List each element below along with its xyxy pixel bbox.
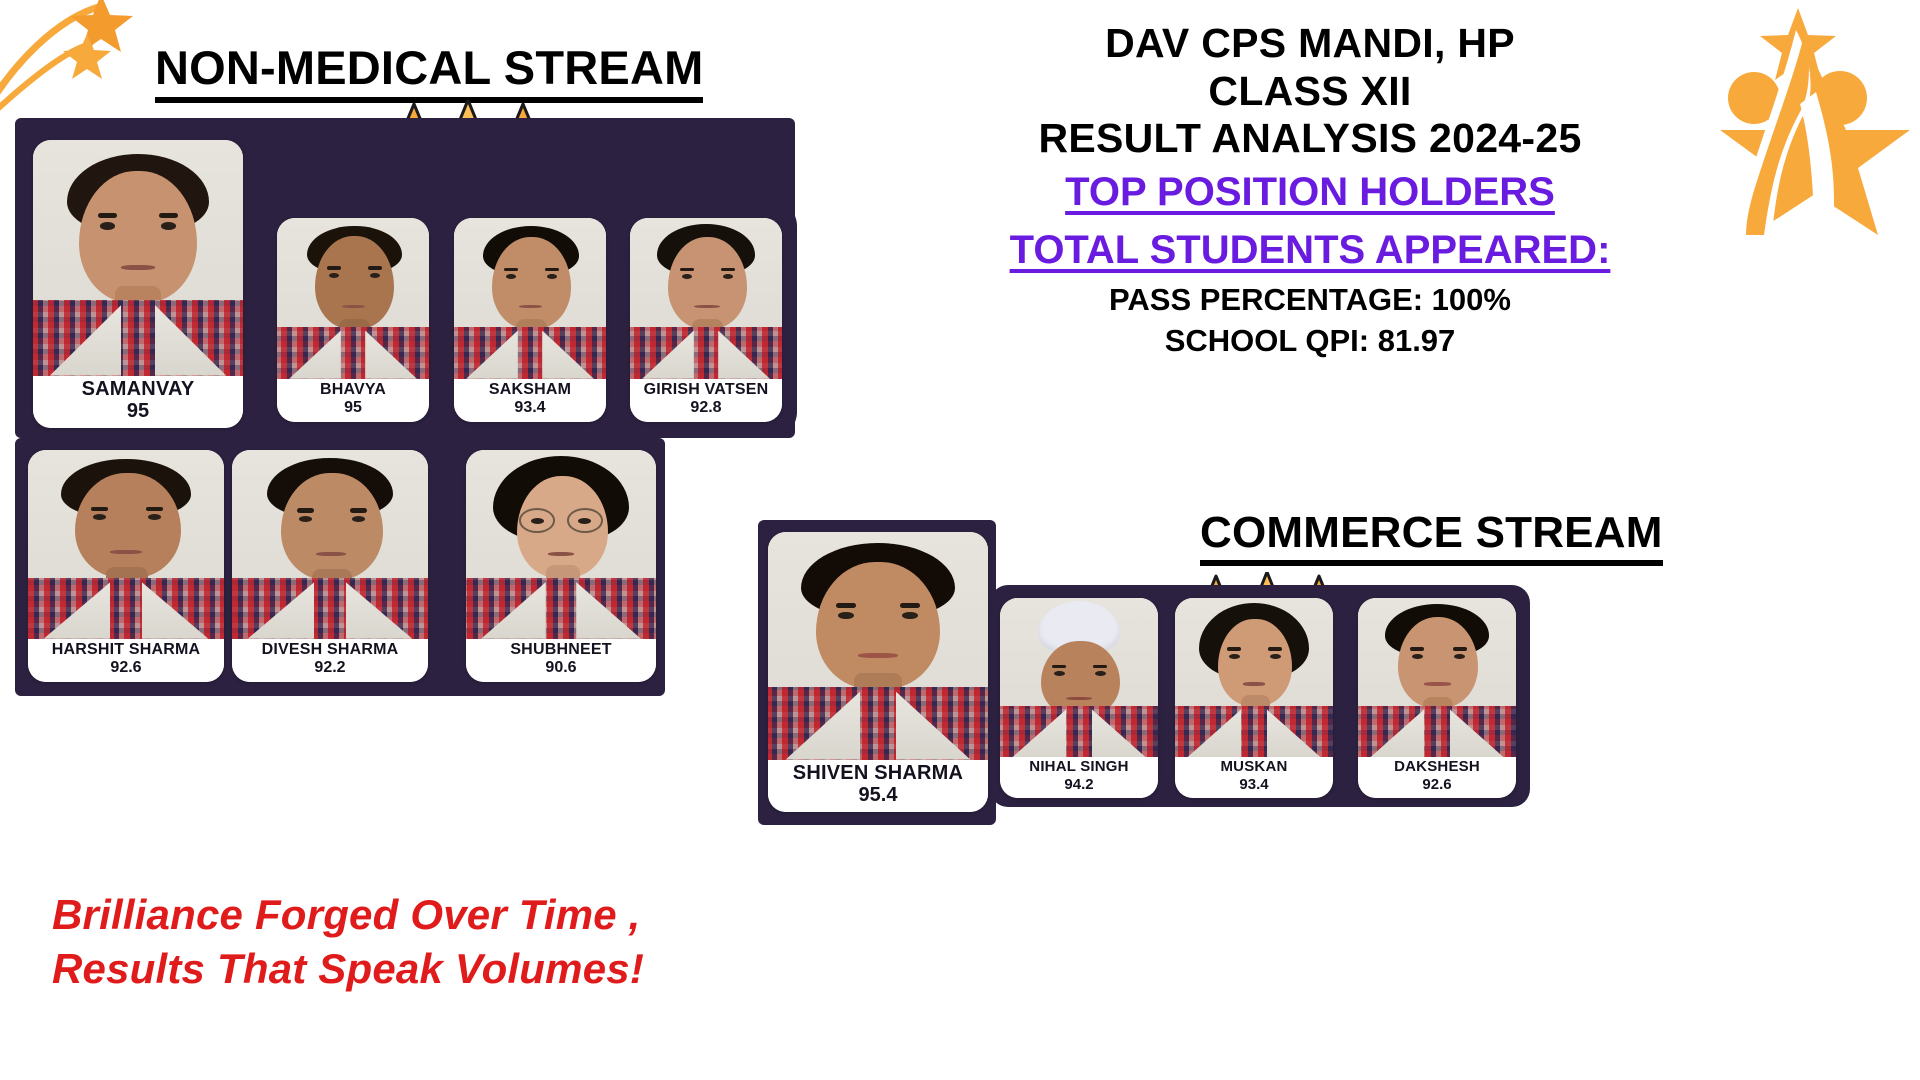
student-name: DAKSHESH xyxy=(1360,759,1514,776)
student-name: SAMANVAY xyxy=(35,378,241,400)
student-name: HARSHIT SHARMA xyxy=(30,641,222,659)
student-score: 95.4 xyxy=(770,784,986,807)
student-photo xyxy=(33,140,243,376)
student-caption: BHAVYA 95 xyxy=(277,379,429,422)
student-card[interactable]: GIRISH VATSEN 92.8 xyxy=(630,218,782,422)
student-photo xyxy=(28,450,224,639)
student-score: 94.2 xyxy=(1002,776,1156,793)
header-text-block: DAV CPS MANDI, HP CLASS XII RESULT ANALY… xyxy=(960,20,1660,362)
student-score: 93.4 xyxy=(456,399,604,417)
student-name: DIVESH SHARMA xyxy=(234,641,426,659)
student-name: BHAVYA xyxy=(279,381,427,399)
student-card[interactable]: SHIVEN SHARMA 95.4 xyxy=(768,532,988,812)
student-card[interactable]: SHUBHNEET 90.6 xyxy=(466,450,656,682)
commerce-stream-title-text: COMMERCE STREAM xyxy=(1200,508,1663,557)
student-photo xyxy=(1000,598,1158,757)
nonmedical-stream-title-text: NON-MEDICAL STREAM xyxy=(155,41,703,94)
student-score: 95 xyxy=(279,399,427,417)
star-people-logo-icon xyxy=(1680,0,1910,235)
student-caption: GIRISH VATSEN 92.8 xyxy=(630,379,782,422)
student-score: 90.6 xyxy=(468,659,654,677)
tagline: Brilliance Forged Over Time , Results Th… xyxy=(52,888,752,996)
commerce-stream-title: COMMERCE STREAM xyxy=(1200,508,1663,566)
student-photo xyxy=(1358,598,1516,757)
student-score: 92.6 xyxy=(30,659,222,677)
student-score: 93.4 xyxy=(1177,776,1331,793)
student-card[interactable]: SAKSHAM 93.4 xyxy=(454,218,606,422)
student-caption: SAMANVAY 95 xyxy=(33,376,243,428)
student-score: 95 xyxy=(35,400,241,423)
student-photo xyxy=(1175,598,1333,757)
result-analysis-label: RESULT ANALYSIS 2024-25 xyxy=(960,115,1660,163)
student-score: 92.2 xyxy=(234,659,426,677)
poster-canvas: NON-MEDICAL STREAM DAV CPS MANDI, HP CLA… xyxy=(0,0,1920,1080)
student-caption: DAKSHESH 92.6 xyxy=(1358,757,1516,798)
student-card[interactable]: NIHAL SINGH 94.2 xyxy=(1000,598,1158,798)
student-name: SAKSHAM xyxy=(456,381,604,399)
student-caption: MUSKAN 93.4 xyxy=(1175,757,1333,798)
tagline-line-1: Brilliance Forged Over Time , xyxy=(52,888,752,942)
student-photo xyxy=(232,450,428,639)
student-name: SHIVEN SHARMA xyxy=(770,762,986,784)
student-caption: SAKSHAM 93.4 xyxy=(454,379,606,422)
total-students-appeared-label: TOTAL STUDENTS APPEARED: xyxy=(960,221,1660,279)
school-name: DAV CPS MANDI, HP xyxy=(960,20,1660,68)
student-caption: HARSHIT SHARMA 92.6 xyxy=(28,639,224,682)
student-photo xyxy=(466,450,656,639)
pass-percentage-stat: PASS PERCENTAGE: 100% xyxy=(960,279,1660,321)
student-photo xyxy=(277,218,429,379)
top-position-holders-label: TOP POSITION HOLDERS xyxy=(960,163,1660,221)
student-card[interactable]: MUSKAN 93.4 xyxy=(1175,598,1333,798)
student-photo xyxy=(630,218,782,379)
student-caption: DIVESH SHARMA 92.2 xyxy=(232,639,428,682)
student-score: 92.6 xyxy=(1360,776,1514,793)
student-card[interactable]: SAMANVAY 95 xyxy=(33,140,243,428)
tagline-line-2: Results That Speak Volumes! xyxy=(52,942,752,996)
student-caption: SHIVEN SHARMA 95.4 xyxy=(768,760,988,812)
student-photo xyxy=(768,532,988,760)
class-label: CLASS XII xyxy=(960,68,1660,116)
student-caption: SHUBHNEET 90.6 xyxy=(466,639,656,682)
student-photo xyxy=(454,218,606,379)
title-underline xyxy=(1200,560,1663,566)
student-card[interactable]: BHAVYA 95 xyxy=(277,218,429,422)
student-name: MUSKAN xyxy=(1177,759,1331,776)
student-name: NIHAL SINGH xyxy=(1002,759,1156,776)
student-name: SHUBHNEET xyxy=(468,641,654,659)
student-card[interactable]: DIVESH SHARMA 92.2 xyxy=(232,450,428,682)
student-name: GIRISH VATSEN xyxy=(632,381,780,399)
school-qpi-stat: SCHOOL QPI: 81.97 xyxy=(960,320,1660,362)
student-card[interactable]: HARSHIT SHARMA 92.6 xyxy=(28,450,224,682)
nonmedical-stream-title: NON-MEDICAL STREAM xyxy=(155,40,703,103)
student-caption: NIHAL SINGH 94.2 xyxy=(1000,757,1158,798)
student-score: 92.8 xyxy=(632,399,780,417)
student-card[interactable]: DAKSHESH 92.6 xyxy=(1358,598,1516,798)
